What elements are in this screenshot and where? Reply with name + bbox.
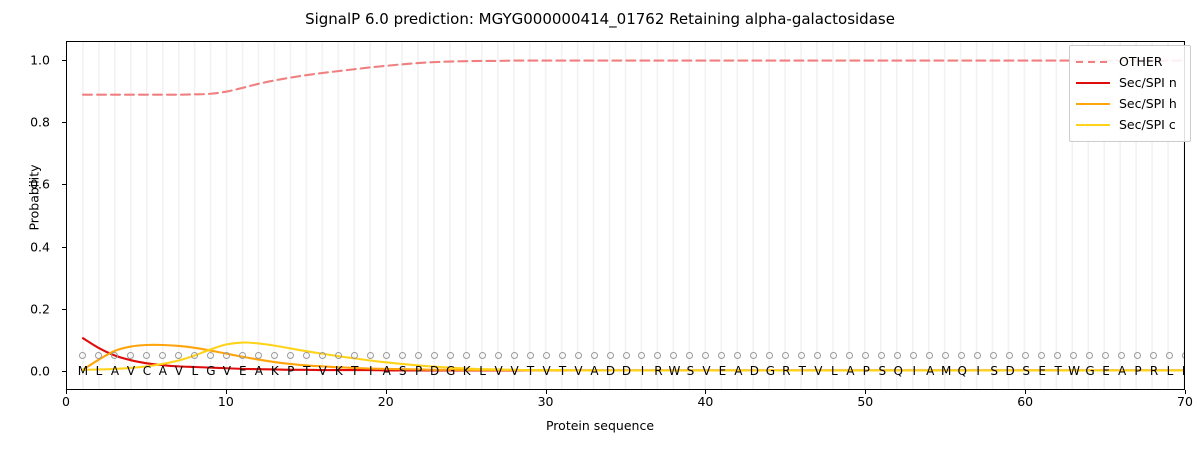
legend-item-other[interactable]: OTHER bbox=[1076, 51, 1184, 72]
residue-circle-icon bbox=[367, 352, 374, 359]
residue-circle-icon bbox=[543, 352, 550, 359]
series-line-other bbox=[83, 61, 1184, 95]
residue-circle-icon bbox=[575, 352, 582, 359]
residue-circle-icon bbox=[463, 352, 470, 359]
x-tick-label: 60 bbox=[995, 394, 1055, 409]
residue-circle-icon bbox=[1166, 352, 1173, 359]
legend-item-sec-spi-c[interactable]: Sec/SPI c bbox=[1076, 114, 1184, 135]
residue-circle-icon bbox=[591, 352, 598, 359]
residue-circle-icon bbox=[207, 352, 214, 359]
residue-circle-icon bbox=[527, 352, 534, 359]
residue-circle-icon bbox=[1102, 352, 1109, 359]
x-tick-mark bbox=[1025, 390, 1026, 394]
chart-legend: OTHERSec/SPI nSec/SPI hSec/SPI c bbox=[1069, 45, 1191, 142]
residue-circle-icon bbox=[127, 352, 134, 359]
legend-swatch-sec-spi-c bbox=[1076, 119, 1110, 131]
chart-title: SignalP 6.0 prediction: MGYG000000414_01… bbox=[0, 10, 1200, 28]
x-tick-label: 0 bbox=[36, 394, 96, 409]
residue-circle-icon bbox=[1182, 352, 1185, 359]
x-tick-mark bbox=[226, 390, 227, 394]
x-tick-label: 40 bbox=[675, 394, 735, 409]
legend-label-sec-spi-c: Sec/SPI c bbox=[1110, 117, 1176, 132]
residue-circle-icon bbox=[399, 352, 406, 359]
x-tick-mark bbox=[865, 390, 866, 394]
residue-circle-icon bbox=[271, 352, 278, 359]
x-tick-mark bbox=[705, 390, 706, 394]
residue-circle-icon bbox=[495, 352, 502, 359]
residue-circle-icon bbox=[159, 352, 166, 359]
residue-circle-icon bbox=[351, 352, 358, 359]
legend-item-sec-spi-n[interactable]: Sec/SPI n bbox=[1076, 72, 1184, 93]
residue-circle-icon bbox=[607, 352, 614, 359]
residue-circle-icon bbox=[623, 352, 630, 359]
residue-circle-icon bbox=[287, 352, 294, 359]
x-tick-label: 10 bbox=[196, 394, 256, 409]
residue-circle-icon bbox=[303, 352, 310, 359]
x-tick-label: 30 bbox=[516, 394, 576, 409]
residue-circle-icon bbox=[111, 352, 118, 359]
plot-area: MLAVCAVLGVEAKPTVKTIASPDGKLVVTVTVADDIRWSV… bbox=[66, 41, 1185, 390]
y-tick-label: 0.2 bbox=[10, 301, 50, 316]
residue-circle-icon bbox=[79, 352, 86, 359]
residue-circle-icon bbox=[1150, 352, 1157, 359]
x-tick-mark bbox=[66, 390, 67, 394]
residue-circle-icon bbox=[239, 352, 246, 359]
legend-item-sec-spi-h[interactable]: Sec/SPI h bbox=[1076, 93, 1184, 114]
residue-circle-icon bbox=[319, 352, 326, 359]
residue-circle-icon bbox=[1118, 352, 1125, 359]
x-tick-mark bbox=[546, 390, 547, 394]
y-tick-label: 0.4 bbox=[10, 239, 50, 254]
residue-circle-icon bbox=[143, 352, 150, 359]
y-tick-label: 0.6 bbox=[10, 177, 50, 192]
residue-circle-icon bbox=[431, 352, 438, 359]
residue-circle-icon bbox=[383, 352, 390, 359]
residue-circle-icon bbox=[191, 352, 198, 359]
y-tick-label: 1.0 bbox=[10, 52, 50, 67]
legend-swatch-sec-spi-h bbox=[1076, 98, 1110, 110]
signalp-prediction-figure: SignalP 6.0 prediction: MGYG000000414_01… bbox=[0, 0, 1200, 450]
residue-circle-icon bbox=[223, 352, 230, 359]
residue-circle-icon bbox=[175, 352, 182, 359]
y-tick-label: 0.0 bbox=[10, 364, 50, 379]
residue-circle-icon bbox=[559, 352, 566, 359]
x-tick-label: 50 bbox=[835, 394, 895, 409]
residue-circle-icon bbox=[1134, 352, 1141, 359]
residue-circle-icon bbox=[335, 352, 342, 359]
residue-circle-icon bbox=[511, 352, 518, 359]
legend-label-other: OTHER bbox=[1110, 54, 1162, 69]
plot-svg bbox=[67, 42, 1184, 389]
residue-circle-icon bbox=[447, 352, 454, 359]
legend-label-sec-spi-n: Sec/SPI n bbox=[1110, 75, 1177, 90]
residue-circle-icon bbox=[255, 352, 262, 359]
legend-swatch-sec-spi-n bbox=[1076, 77, 1110, 89]
residue-circle-icon bbox=[479, 352, 486, 359]
x-axis-label: Protein sequence bbox=[0, 418, 1200, 433]
residue-letter: R bbox=[1175, 364, 1185, 378]
residue-circle-icon bbox=[95, 352, 102, 359]
x-tick-mark bbox=[1185, 390, 1186, 394]
residue-circle-icon bbox=[415, 352, 422, 359]
x-tick-label: 20 bbox=[356, 394, 416, 409]
x-tick-mark bbox=[386, 390, 387, 394]
y-tick-label: 0.8 bbox=[10, 115, 50, 130]
legend-swatch-other bbox=[1076, 56, 1110, 68]
legend-label-sec-spi-h: Sec/SPI h bbox=[1110, 96, 1177, 111]
x-tick-label: 70 bbox=[1155, 394, 1200, 409]
